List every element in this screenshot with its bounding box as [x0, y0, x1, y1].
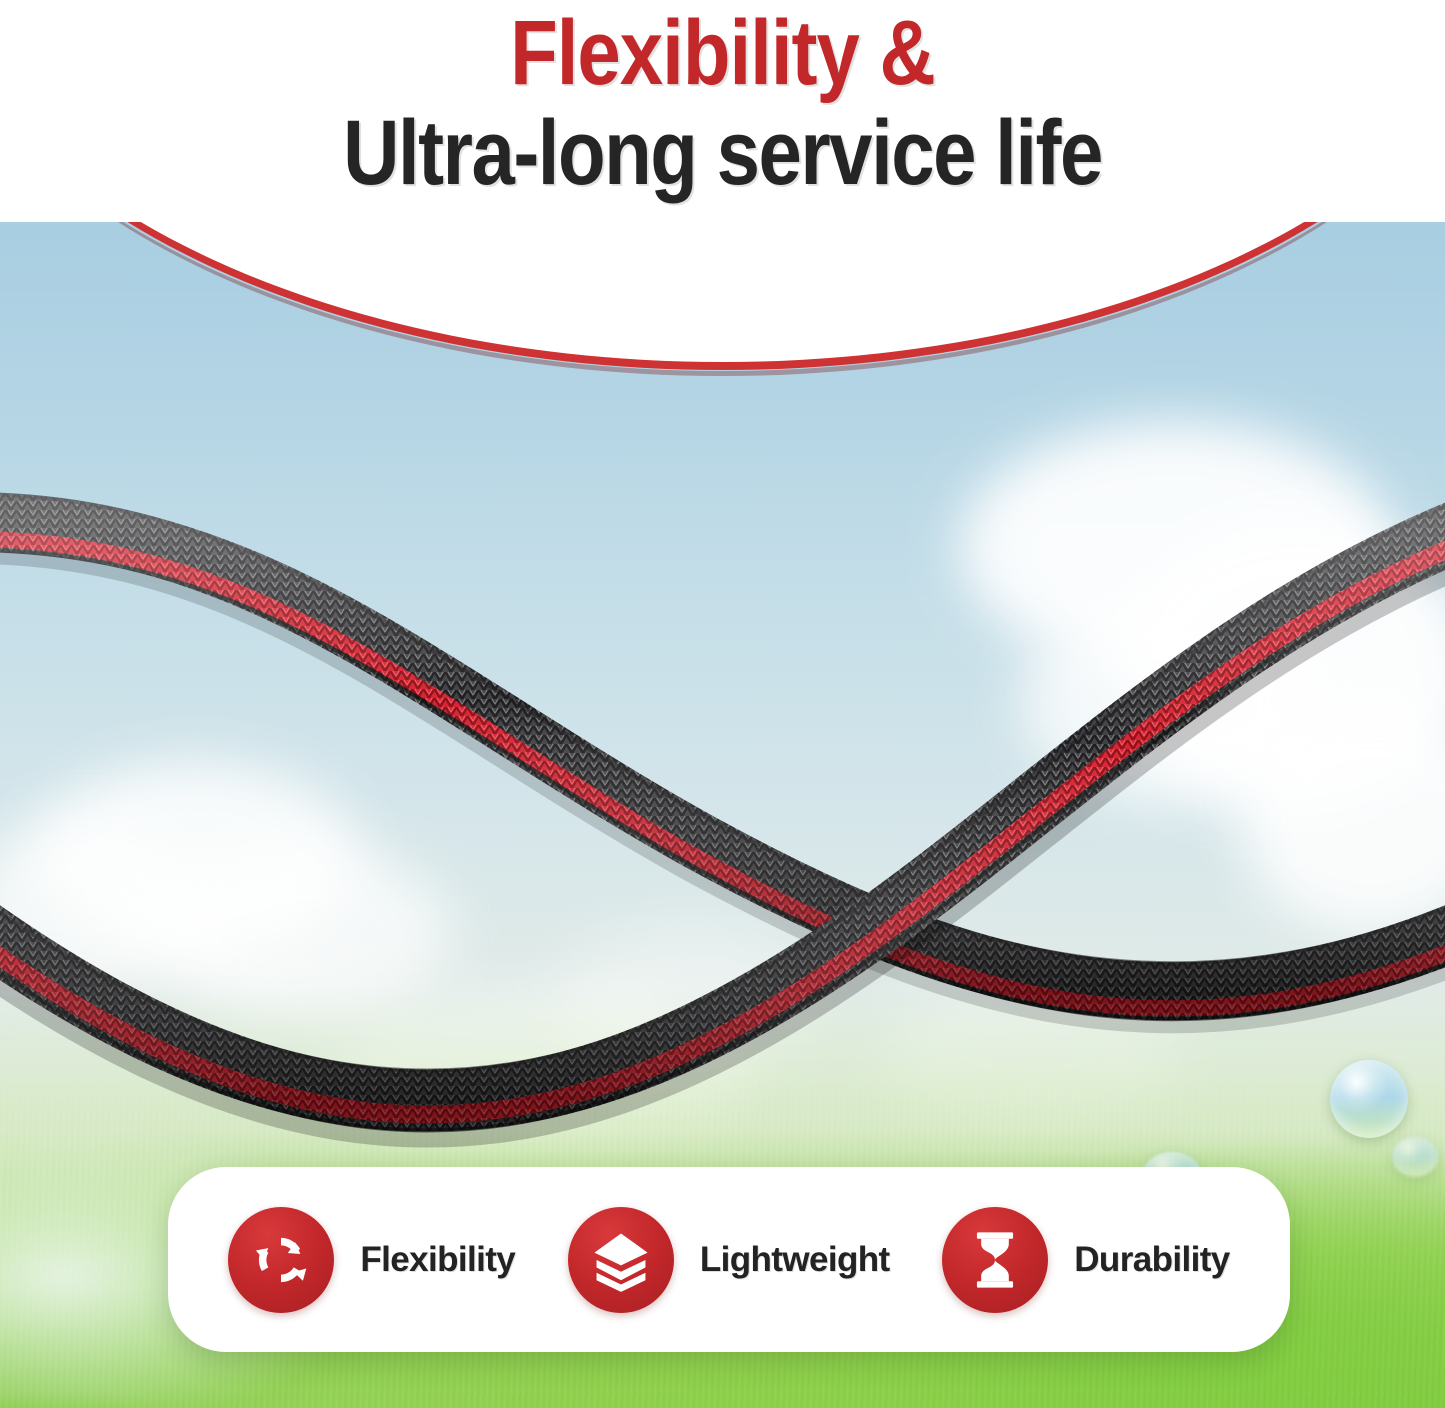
heading-line-primary: Flexibility & — [510, 6, 935, 98]
feature-label: Flexibility — [360, 1240, 515, 1280]
feature-item-lightweight[interactable]: Lightweight — [568, 1207, 890, 1313]
heading-line-secondary: Ultra-long service life — [343, 106, 1102, 198]
recycle-arrows-icon — [228, 1207, 334, 1313]
feature-item-durability[interactable]: Durability — [942, 1207, 1229, 1313]
hourglass-icon — [942, 1207, 1048, 1313]
page-heading: Flexibility & Ultra-long service life — [0, 0, 1445, 200]
layers-stack-icon — [568, 1207, 674, 1313]
feature-highlights-card: Flexibility Lightweight — [168, 1167, 1290, 1352]
product-feature-page: Flexibility & Ultra-long service life — [0, 0, 1445, 1408]
feature-label: Lightweight — [700, 1240, 890, 1280]
feature-label: Durability — [1074, 1240, 1229, 1280]
hose-strand-back — [0, 494, 1445, 1019]
feature-item-flexibility[interactable]: Flexibility — [228, 1207, 515, 1313]
